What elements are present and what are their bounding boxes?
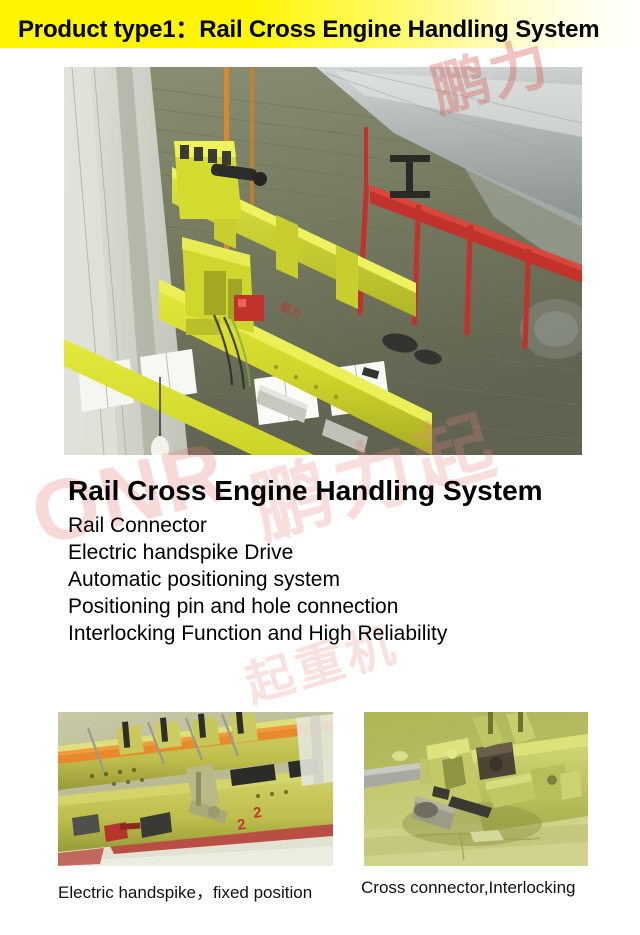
feature-item: Rail Connector bbox=[68, 512, 628, 539]
cross-connector-photo bbox=[364, 712, 588, 866]
product-heading: Rail Cross Engine Handling System bbox=[68, 474, 628, 508]
feature-item: Interlocking Function and High Reliabili… bbox=[68, 620, 628, 647]
feature-item: Electric handspike Drive bbox=[68, 539, 628, 566]
thumbnail-caption-right: Cross connector,Interlocking bbox=[361, 878, 576, 898]
cross-connector-illustration bbox=[364, 712, 588, 866]
page-title: Product type1：Rail Cross Engine Handling… bbox=[18, 9, 599, 44]
feature-item: Automatic positioning system bbox=[68, 566, 628, 593]
feature-item: Positioning pin and hole connection bbox=[68, 593, 628, 620]
header-band: Product type1：Rail Cross Engine Handling… bbox=[0, 0, 640, 48]
main-photo-illustration: 鹏力 bbox=[64, 67, 582, 455]
product-spec-block: Rail Cross Engine Handling System Rail C… bbox=[68, 474, 628, 647]
electric-handspike-photo: 2 2 bbox=[58, 712, 333, 866]
electric-handspike-illustration: 2 2 bbox=[58, 712, 333, 866]
main-product-photo: 鹏力 bbox=[64, 67, 582, 455]
thumbnail-caption-left: Electric handspike，fixed position bbox=[58, 878, 312, 903]
